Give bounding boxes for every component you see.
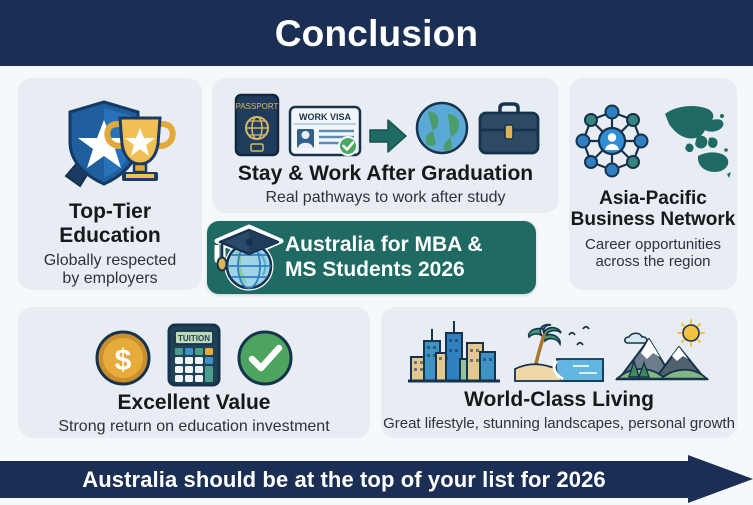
check-circle-icon [236, 329, 294, 387]
passport-icon: PASSPORT [230, 92, 282, 158]
card-subtitle: Strong return on education investment [18, 418, 370, 436]
card-subtitle: Career opportunities across the region [569, 236, 737, 271]
center-banner-line: Australia for MBA & [285, 233, 483, 258]
center-banner-text: Australia for MBA & MS Students 2026 [285, 233, 493, 283]
card-icon-group: $ TUITION [18, 307, 370, 387]
center-banner-line: MS Students 2026 [285, 258, 483, 283]
shield-star-icon [46, 96, 174, 192]
svg-text:$: $ [115, 344, 132, 377]
card-subtitle-line: across the region [569, 253, 737, 270]
card-title: Excellent Value [18, 391, 370, 415]
bottom-arrow-banner: Australia should be at the top of your l… [0, 455, 753, 504]
card-subtitle-line: Globally respected [18, 252, 202, 270]
page-title: Conclusion [275, 15, 478, 52]
dollar-coin-icon: $ [94, 329, 152, 387]
card-title: World-Class Living [381, 388, 737, 412]
card-title-line: Education [18, 224, 202, 248]
card-excellent-value: $ TUITION [18, 307, 370, 438]
card-top-tier-education: Top-Tier Education Globally respected by… [18, 78, 202, 290]
card-icon-group [381, 307, 737, 385]
card-icon-group [18, 78, 202, 192]
card-subtitle-line: by employers [18, 270, 202, 288]
card-world-class-living: World-Class Living Great lifestyle, stun… [381, 307, 737, 438]
card-title-line: Business Network [569, 209, 737, 230]
card-icon-group: PASSPORT WORK VISA [212, 78, 559, 158]
card-subtitle: Globally respected by employers [18, 252, 202, 289]
passport-label: PASSPORT [235, 102, 278, 111]
card-title-line: Asia-Pacific [569, 188, 737, 209]
card-title: Top-Tier Education [18, 200, 202, 247]
card-title: Asia-Pacific Business Network [569, 188, 737, 231]
mountains-sun-icon [615, 319, 711, 385]
work-visa-card-icon: WORK VISA [288, 104, 362, 158]
center-banner: Australia for MBA & MS Students 2026 [207, 221, 536, 294]
arrow-right-icon [368, 114, 408, 158]
card-subtitle-line: Career opportunities [569, 236, 737, 253]
card-icon-group [569, 78, 737, 182]
globe-icon [414, 98, 470, 158]
asia-pacific-map-icon [657, 100, 735, 182]
arrow-right-icon [688, 455, 753, 503]
calculator-display-label: TUITION [178, 334, 210, 343]
infographic-page: Conclusion [0, 0, 753, 505]
beach-palm-icon [511, 319, 607, 385]
card-title: Stay & Work After Graduation [212, 162, 559, 186]
network-nodes-icon [571, 100, 653, 182]
card-stay-and-work: PASSPORT WORK VISA [212, 78, 559, 213]
header-banner: Conclusion [0, 0, 753, 66]
city-skyline-icon [407, 319, 503, 385]
card-subtitle: Great lifestyle, stunning landscapes, pe… [381, 415, 737, 432]
card-subtitle: Real pathways to work after study [212, 189, 559, 207]
bottom-banner-text: Australia should be at the top of your l… [0, 461, 688, 498]
card-title-line: Top-Tier [18, 200, 202, 224]
briefcase-icon [476, 100, 542, 158]
card-asia-pacific-network: Asia-Pacific Business Network Career opp… [569, 78, 737, 290]
work-visa-label: WORK VISA [298, 112, 351, 122]
graduation-cap-globe-icon [207, 221, 285, 294]
calculator-icon: TUITION [166, 323, 222, 387]
